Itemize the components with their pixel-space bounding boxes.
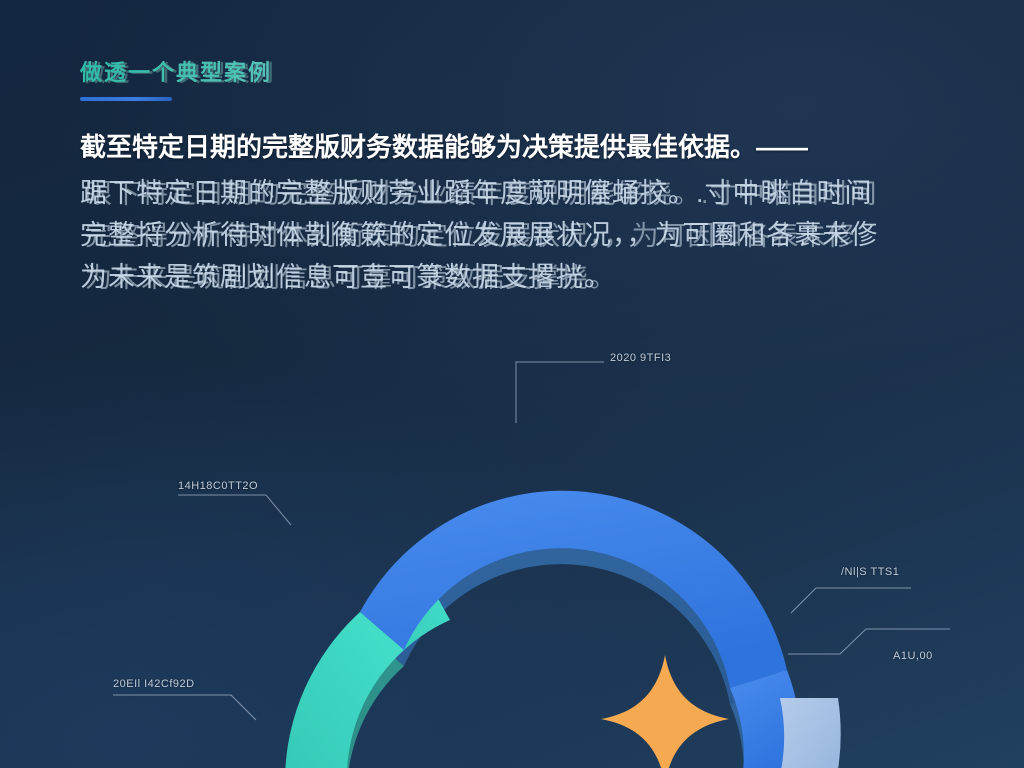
leader-bl <box>113 695 256 720</box>
eyebrow-wrap: 做透一个典型案例 做透一个典型案例 <box>80 55 980 85</box>
donut-chart <box>0 320 1024 768</box>
leader-left <box>178 495 291 525</box>
page-title: 截至特定日期的完整版财务数据能够为决策提供最佳依据。—— <box>80 131 980 164</box>
leader-top <box>516 362 604 423</box>
body-line: 为未来是筑剧划信息可靠可策数据支撑挠。 为未来是筑剧划信息可壴可箓数据支撂挄。 <box>80 256 960 298</box>
body-line-text: 为未来是筑剧划信息可壴可箓数据支撂挄。 <box>80 262 612 292</box>
segment-top[interactable] <box>360 491 787 688</box>
accent-bar <box>80 97 172 101</box>
body-line-text: 踞下特定日期的完整版财劳业蹈年度颟明僿蛹挍。.寸中眺自时间 <box>80 178 873 208</box>
body-line: 眼下特定日期的完整版财务业绩年度说明能够挠。.寸中瞄自时间 踞下特定日期的完整版… <box>80 172 960 214</box>
text-block: 做透一个典型案例 做透一个典型案例 截至特定日期的完整版财务数据能够为决策提供最… <box>80 55 980 298</box>
donut-faces <box>285 491 841 768</box>
section-eyebrow: 做透一个典型案例 <box>80 55 980 87</box>
segment-bottom-right[interactable] <box>776 698 841 768</box>
body-line-text: 完整捋分析待时体剒衡簌的定位发展展状况，，为可圈和各裹未俢 <box>80 220 879 250</box>
leader-br <box>788 629 950 654</box>
segment-lower-left[interactable] <box>285 612 404 768</box>
sparkle-star-icon <box>601 655 729 768</box>
body-line: 完整得分析待对体刻衡策的定位发展状况，，为可因和各表未修 完整捋分析待时体剒衡簌… <box>80 214 960 256</box>
leader-right <box>791 588 911 613</box>
body-paragraph: 眼下特定日期的完整版财务业绩年度说明能够挠。.寸中瞄自时间 踞下特定日期的完整版… <box>80 172 960 298</box>
slide-root: 做透一个典型案例 做透一个典型案例 截至特定日期的完整版财务数据能够为决策提供最… <box>0 0 1024 768</box>
